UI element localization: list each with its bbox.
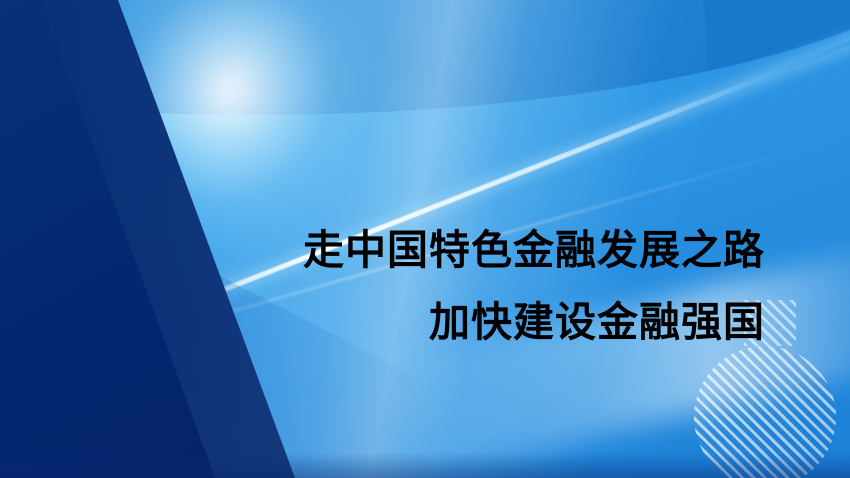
presentation-slide: 走中国特色金融发展之路 加快建设金融强国: [0, 0, 850, 478]
striped-circle-shading: [694, 346, 836, 478]
slide-title: 走中国特色金融发展之路 加快建设金融强国: [0, 214, 765, 358]
slide-title-line-1: 走中国特色金融发展之路: [0, 214, 765, 286]
slide-title-line-2: 加快建设金融强国: [0, 286, 765, 358]
